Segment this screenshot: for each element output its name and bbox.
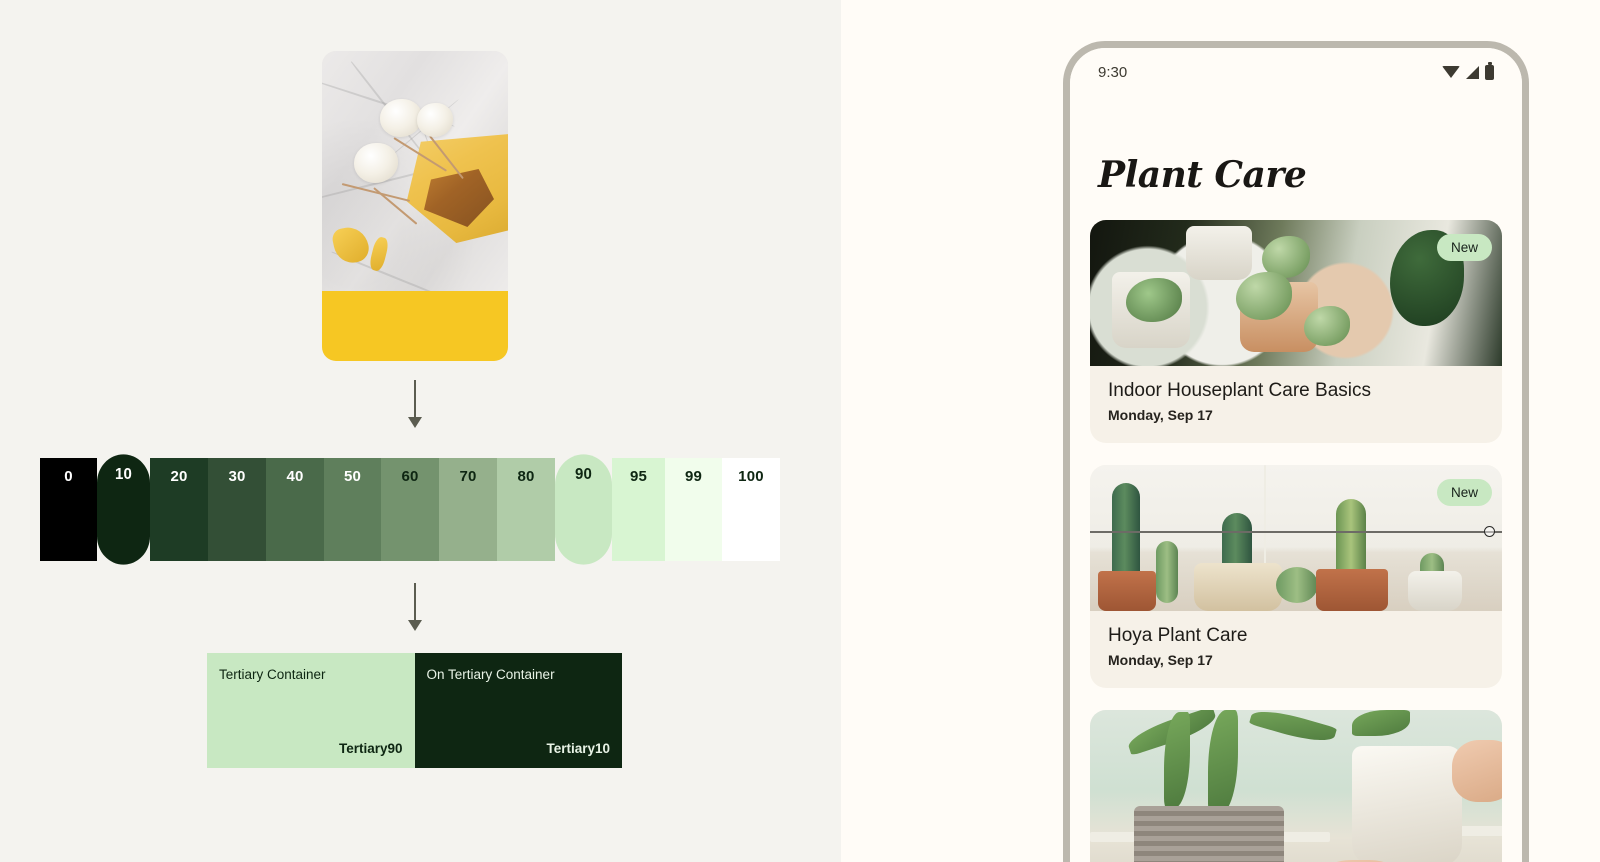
battery-icon [1485, 65, 1494, 80]
watering-can [1352, 746, 1462, 862]
status-badge: New [1437, 234, 1492, 261]
list-item[interactable]: New Indoor Houseplant Care Basics Monday… [1090, 220, 1502, 443]
plant-leaf [1249, 710, 1337, 747]
tone-swatch-40[interactable]: 40 [266, 458, 324, 561]
tone-swatch-70[interactable]: 70 [439, 458, 497, 561]
status-bar: 9:30 [1090, 48, 1502, 96]
plant-pot [1408, 571, 1462, 611]
yellow-petal [368, 236, 390, 272]
list-item[interactable]: New *.tertiary-container Hoya Plant Care… [1090, 465, 1502, 688]
inspector-guide-line [1090, 531, 1502, 533]
card-title: Indoor Houseplant Care Basics [1108, 380, 1484, 402]
dried-flower [354, 143, 398, 183]
tone-swatch-50[interactable]: 50 [324, 458, 381, 561]
tone-label: 95 [630, 469, 647, 561]
cursor-pointer [1484, 526, 1495, 537]
tone-swatch-30[interactable]: 30 [208, 458, 266, 561]
arrow-shaft [414, 380, 416, 418]
role-title: Tertiary Container [219, 667, 403, 682]
striped-pot [1194, 563, 1282, 611]
arrow-head [408, 620, 422, 631]
tone-swatch-100[interactable]: 100 [722, 458, 780, 561]
list-item[interactable] [1090, 710, 1502, 862]
cactus [1156, 541, 1178, 603]
role-swatches: Tertiary ContainerTertiary90On Tertiary … [207, 653, 622, 768]
terracotta-pot [1098, 571, 1156, 611]
device-preview-panel: 9:30 Plant Care [841, 0, 1600, 862]
plant-leaf [1304, 306, 1350, 346]
role-swatch[interactable]: Tertiary ContainerTertiary90 [207, 653, 415, 768]
terracotta-pot [1316, 569, 1388, 611]
status-icons [1442, 65, 1494, 80]
hand [1452, 740, 1502, 802]
yellow-petal [331, 224, 372, 266]
tone-swatch-80[interactable]: 80 [497, 458, 555, 561]
card-body: Indoor Houseplant Care Basics Monday, Se… [1090, 366, 1502, 443]
tone-swatch-90[interactable]: 90 [555, 454, 612, 564]
card-body: Hoya Plant Care Monday, Sep 17 [1090, 611, 1502, 688]
card-image-watering [1090, 710, 1502, 862]
phone-mockup: 9:30 Plant Care [1063, 41, 1529, 862]
card-title: Hoya Plant Care [1108, 625, 1484, 647]
down-arrow-icon [404, 583, 426, 631]
card-image-cacti: New *.tertiary-container [1090, 465, 1502, 611]
tone-swatch-0[interactable]: 0 [40, 458, 97, 561]
dried-flower [417, 103, 453, 137]
tone-label: 10 [115, 466, 132, 564]
striped-planter [1134, 806, 1284, 862]
source-photograph [322, 51, 508, 291]
tone-swatch-60[interactable]: 60 [381, 458, 439, 561]
tone-label: 80 [517, 469, 534, 561]
tone-label: 20 [170, 469, 187, 561]
plant-leaf [1352, 710, 1410, 736]
phone-screen: 9:30 Plant Care [1070, 48, 1522, 862]
plant-leaf [1208, 710, 1238, 814]
source-and-palette-panel: 01020304050607080909599100 Tertiary Cont… [0, 0, 841, 862]
tonal-palette: 01020304050607080909599100 [40, 458, 780, 561]
flower-stem [342, 183, 410, 201]
tone-swatch-99[interactable]: 99 [665, 458, 722, 561]
tone-swatch-20[interactable]: 20 [150, 458, 208, 561]
status-badge: New [1437, 479, 1492, 506]
role-token: Tertiary10 [546, 741, 610, 756]
arrow-head [408, 417, 422, 428]
tone-swatch-10[interactable]: 10 [97, 454, 150, 564]
tone-label: 60 [401, 469, 418, 561]
tone-label: 90 [575, 466, 592, 564]
tone-label: 40 [286, 469, 303, 561]
tone-label: 50 [344, 469, 361, 561]
tone-swatch-95[interactable]: 95 [612, 458, 665, 561]
tone-label: 100 [738, 469, 764, 561]
role-swatch[interactable]: On Tertiary ContainerTertiary10 [415, 653, 623, 768]
cactus [1276, 567, 1318, 603]
wifi-icon [1442, 66, 1460, 78]
tone-label: 70 [459, 469, 476, 561]
shelf-line [1264, 465, 1266, 569]
role-title: On Tertiary Container [427, 667, 611, 682]
card-date: Monday, Sep 17 [1108, 407, 1484, 423]
tone-label: 99 [685, 469, 702, 561]
role-token: Tertiary90 [339, 741, 403, 756]
tone-label: 0 [64, 469, 73, 561]
down-arrow-icon [404, 380, 426, 428]
page-title: Plant Care [1090, 96, 1502, 196]
plant-pot [1186, 226, 1252, 280]
card-date: Monday, Sep 17 [1108, 652, 1484, 668]
signal-icon [1466, 66, 1479, 79]
arrow-shaft [414, 583, 416, 621]
status-clock: 9:30 [1098, 64, 1127, 81]
card-image-succulents: New [1090, 220, 1502, 366]
plant-care-card-list: New Indoor Houseplant Care Basics Monday… [1090, 220, 1502, 862]
tone-label: 30 [228, 469, 245, 561]
extracted-color-bar [322, 291, 508, 361]
dried-flower [380, 99, 422, 137]
source-image-card[interactable] [322, 51, 508, 361]
